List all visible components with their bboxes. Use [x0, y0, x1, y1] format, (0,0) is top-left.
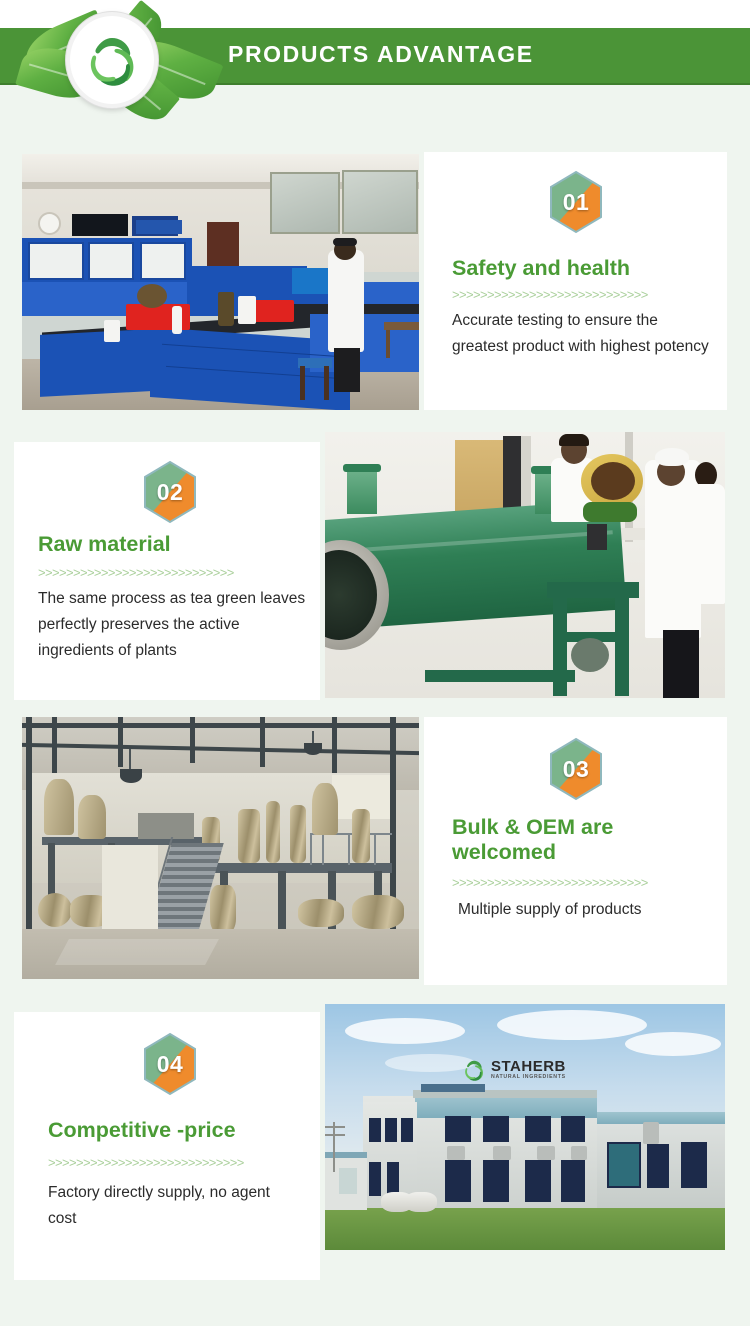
staherb-leaf-emblem — [18, 2, 218, 118]
recycle-swirl-icon — [461, 1056, 487, 1084]
badge-02: 02 — [142, 460, 198, 524]
badge-number: 04 — [142, 1032, 198, 1096]
chevron-divider: >>>>>>>>>>>>>>>>>>>>>>>>>>>> — [452, 875, 702, 890]
tea-roasting-machine-photo — [325, 432, 725, 698]
chevron-divider: >>>>>>>>>>>>>>>>>>>>>>>>>>>> — [48, 1155, 298, 1170]
card-body: Accurate testing to ensure the greatest … — [452, 308, 714, 360]
advantage-card-03: 03 Bulk & OEM are welcomed >>>>>>>>>>>>>… — [0, 705, 750, 997]
page-title: PRODUCTS ADVANTAGE — [228, 41, 534, 68]
advantage-card-01: 01 Safety and health >>>>>>>>>>>>>>>>>>>… — [0, 140, 750, 425]
card-title: Competitive -price — [48, 1118, 316, 1143]
badge-number: 01 — [548, 170, 604, 234]
card-title: Safety and health — [452, 256, 712, 281]
building-sign-brand: STAHERB — [491, 1059, 566, 1074]
chevron-divider: >>>>>>>>>>>>>>>>>>>>>>>>>>>> — [452, 287, 702, 302]
badge-01: 01 — [548, 170, 604, 234]
logo-circle-badge — [66, 12, 158, 108]
building-roof-sign: STAHERB NATURAL INGREDIENTS — [461, 1056, 566, 1084]
card-title: Raw material — [38, 532, 302, 557]
factory-building-photo: STAHERB NATURAL INGREDIENTS — [325, 1004, 725, 1250]
building-sign-tagline: NATURAL INGREDIENTS — [491, 1075, 566, 1080]
badge-number: 03 — [548, 737, 604, 801]
card-title: Bulk & OEM are welcomed — [452, 815, 667, 865]
card-body: Factory directly supply, no agent cost — [48, 1180, 298, 1232]
extraction-workshop-photo — [22, 717, 419, 979]
advantage-card-04: STAHERB NATURAL INGREDIENTS 04 Competiti… — [0, 1000, 750, 1290]
recycle-swirl-icon — [81, 29, 143, 91]
chevron-divider: >>>>>>>>>>>>>>>>>>>>>>>>>>>> — [38, 565, 288, 580]
badge-04: 04 — [142, 1032, 198, 1096]
advantage-card-02: 02 Raw material >>>>>>>>>>>>>>>>>>>>>>>>… — [0, 428, 750, 713]
page-header: PRODUCTS ADVANTAGE — [0, 0, 750, 128]
card-body: Multiple supply of products — [458, 897, 703, 923]
badge-03: 03 — [548, 737, 604, 801]
badge-number: 02 — [142, 460, 198, 524]
card-body: The same process as tea green leaves per… — [38, 586, 310, 664]
laboratory-photo — [22, 154, 419, 410]
